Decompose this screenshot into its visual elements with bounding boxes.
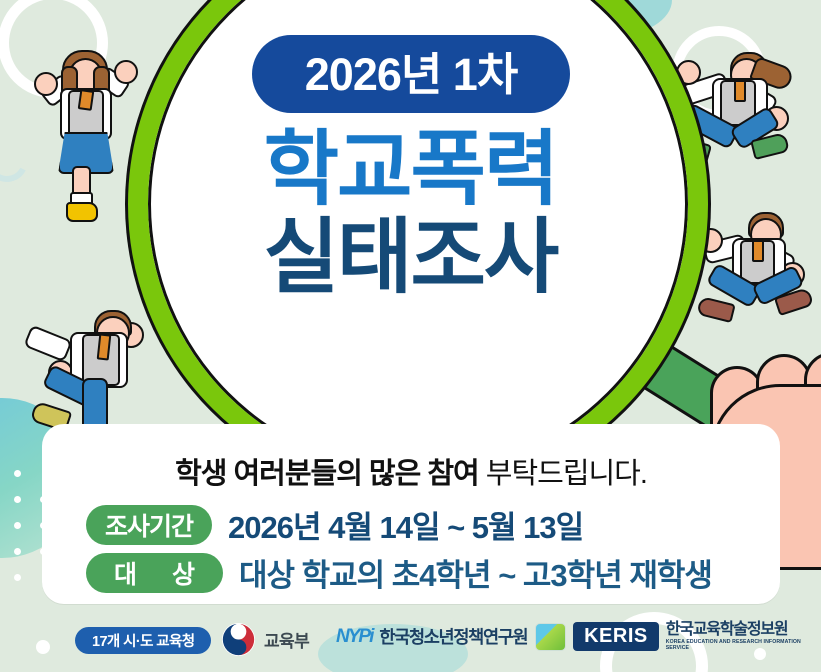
- survey-period-value: 2026년 4월 14일 ~ 5월 13일: [228, 502, 583, 547]
- keris-wordmark: KERIS: [573, 622, 659, 651]
- dot-decoration: [14, 574, 21, 581]
- info-panel: 학생 여러분들의 많은 참여 부탁드립니다. 조사기간 2026년 4월 14일…: [42, 424, 780, 604]
- survey-period-label: 조사기간: [86, 505, 212, 545]
- logo-nypi: NYPi 한국청소년정책연구원: [336, 624, 527, 649]
- education-offices-badge: 17개 시·도 교육청: [75, 627, 211, 654]
- panel-headline-rest: 부탁드립니다.: [486, 458, 647, 490]
- dot-decoration: [14, 522, 21, 529]
- nypi-wordmark-icon: NYPi: [336, 626, 372, 648]
- keris-label-korean: 한국교육학술정보원: [666, 622, 821, 638]
- year-badge: 2026년 1차: [252, 35, 570, 113]
- panel-headline-bold: 학생 여러분들의 많은 참여: [175, 458, 486, 490]
- logo-keris: KERIS 한국교육학술정보원 KOREA EDUCATION AND RESE…: [535, 622, 821, 651]
- poster-title-line2: 실태조사: [0, 216, 821, 300]
- survey-target-label: 대 상: [86, 553, 223, 593]
- survey-target-value: 대상 학교의 초4학년 ~ 고3학년 재학생: [239, 550, 712, 595]
- dot-decoration: [14, 548, 21, 555]
- logo-ministry-of-education: 교육부: [222, 623, 309, 656]
- footer-logos: 17개 시·도 교육청 교육부 NYPi 한국청소년정책연구원 KERIS 한국…: [0, 618, 821, 672]
- student-illustration-bottom-left: [26, 288, 154, 438]
- dot-decoration: [14, 496, 21, 503]
- poster-title-line1: 학교폭력: [0, 128, 821, 212]
- nypi-label: 한국청소년정책연구원: [379, 624, 527, 649]
- keris-label-english: KOREA EDUCATION AND RESEARCH INFORMATION…: [666, 640, 821, 650]
- keris-leaf-icon: [535, 623, 566, 651]
- survey-period-row: 조사기간 2026년 4월 14일 ~ 5월 13일: [86, 502, 583, 547]
- panel-headline: 학생 여러분들의 많은 참여 부탁드립니다.: [42, 450, 780, 492]
- taegeuk-icon: [222, 623, 255, 656]
- dot-decoration: [14, 470, 21, 477]
- poster-root: 2026년 1차 학교폭력 실태조사 학생 여러분들의 많은 참여 부탁드립니다…: [0, 0, 821, 672]
- keris-label-group: 한국교육학술정보원 KOREA EDUCATION AND RESEARCH I…: [666, 622, 821, 650]
- survey-target-row: 대 상 대상 학교의 초4학년 ~ 고3학년 재학생: [86, 550, 712, 595]
- year-badge-label: 2026년 1차: [305, 52, 517, 97]
- ministry-of-education-label: 교육부: [264, 627, 309, 652]
